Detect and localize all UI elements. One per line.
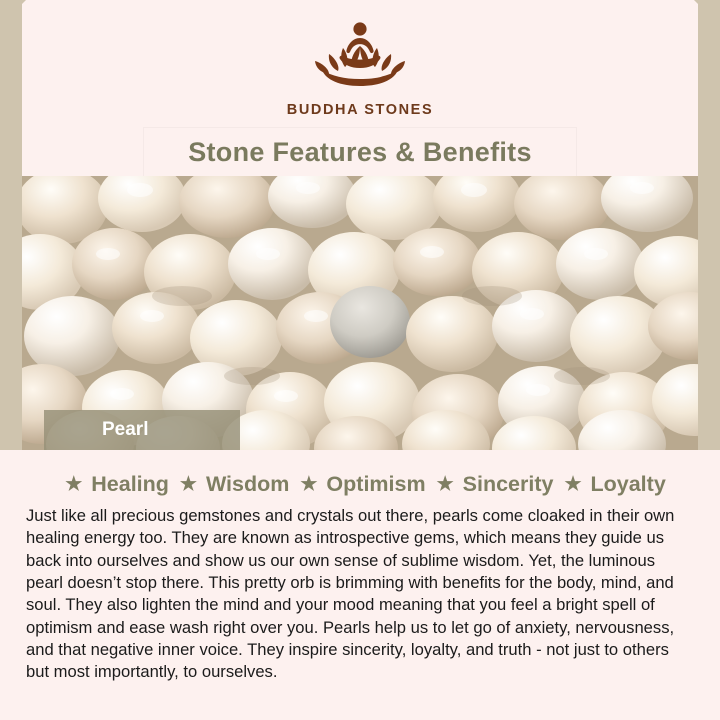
keyword-item: ★ Sincerity: [426, 472, 554, 497]
keyword-list: ★ Healing ★ Wisdom ★ Optimism ★ Sincerit…: [0, 450, 720, 497]
keyword-label: Optimism: [326, 472, 425, 497]
keyword-label: Loyalty: [591, 472, 666, 497]
stone-name-badge: Pearl: [44, 410, 240, 450]
pearls-photo: [22, 176, 698, 450]
star-icon: ★: [300, 475, 317, 494]
stone-name: Pearl: [44, 419, 148, 441]
side-band-left-lower: [0, 178, 22, 450]
star-icon: ★: [564, 475, 581, 494]
brand-name: BUDDHA STONES: [0, 102, 720, 118]
keyword-label: Wisdom: [206, 472, 289, 497]
keyword-label: Healing: [91, 472, 169, 497]
hero-image: Pearl: [22, 176, 698, 450]
side-band-right-lower: [698, 178, 720, 450]
star-icon: ★: [180, 475, 197, 494]
brand-logo: BUDDHA STONES: [0, 14, 720, 118]
star-icon: ★: [65, 475, 82, 494]
keyword-item: ★ Healing: [54, 472, 169, 497]
description-paragraph: Just like all precious gemstones and cry…: [26, 505, 694, 684]
keyword-item: ★ Wisdom: [169, 472, 289, 497]
page-title: Stone Features & Benefits: [188, 137, 532, 168]
keyword-item: ★ Optimism: [289, 472, 425, 497]
keyword-item: ★ Loyalty: [553, 472, 665, 497]
keyword-label: Sincerity: [463, 472, 554, 497]
lotus-meditation-icon: [285, 14, 435, 100]
benefits-section: ★ Healing ★ Wisdom ★ Optimism ★ Sincerit…: [0, 450, 720, 720]
section-title-banner: Stone Features & Benefits: [144, 128, 576, 176]
star-icon: ★: [437, 475, 454, 494]
poster-root: BUDDHA STONES Stone Features & Benefits: [0, 0, 720, 720]
